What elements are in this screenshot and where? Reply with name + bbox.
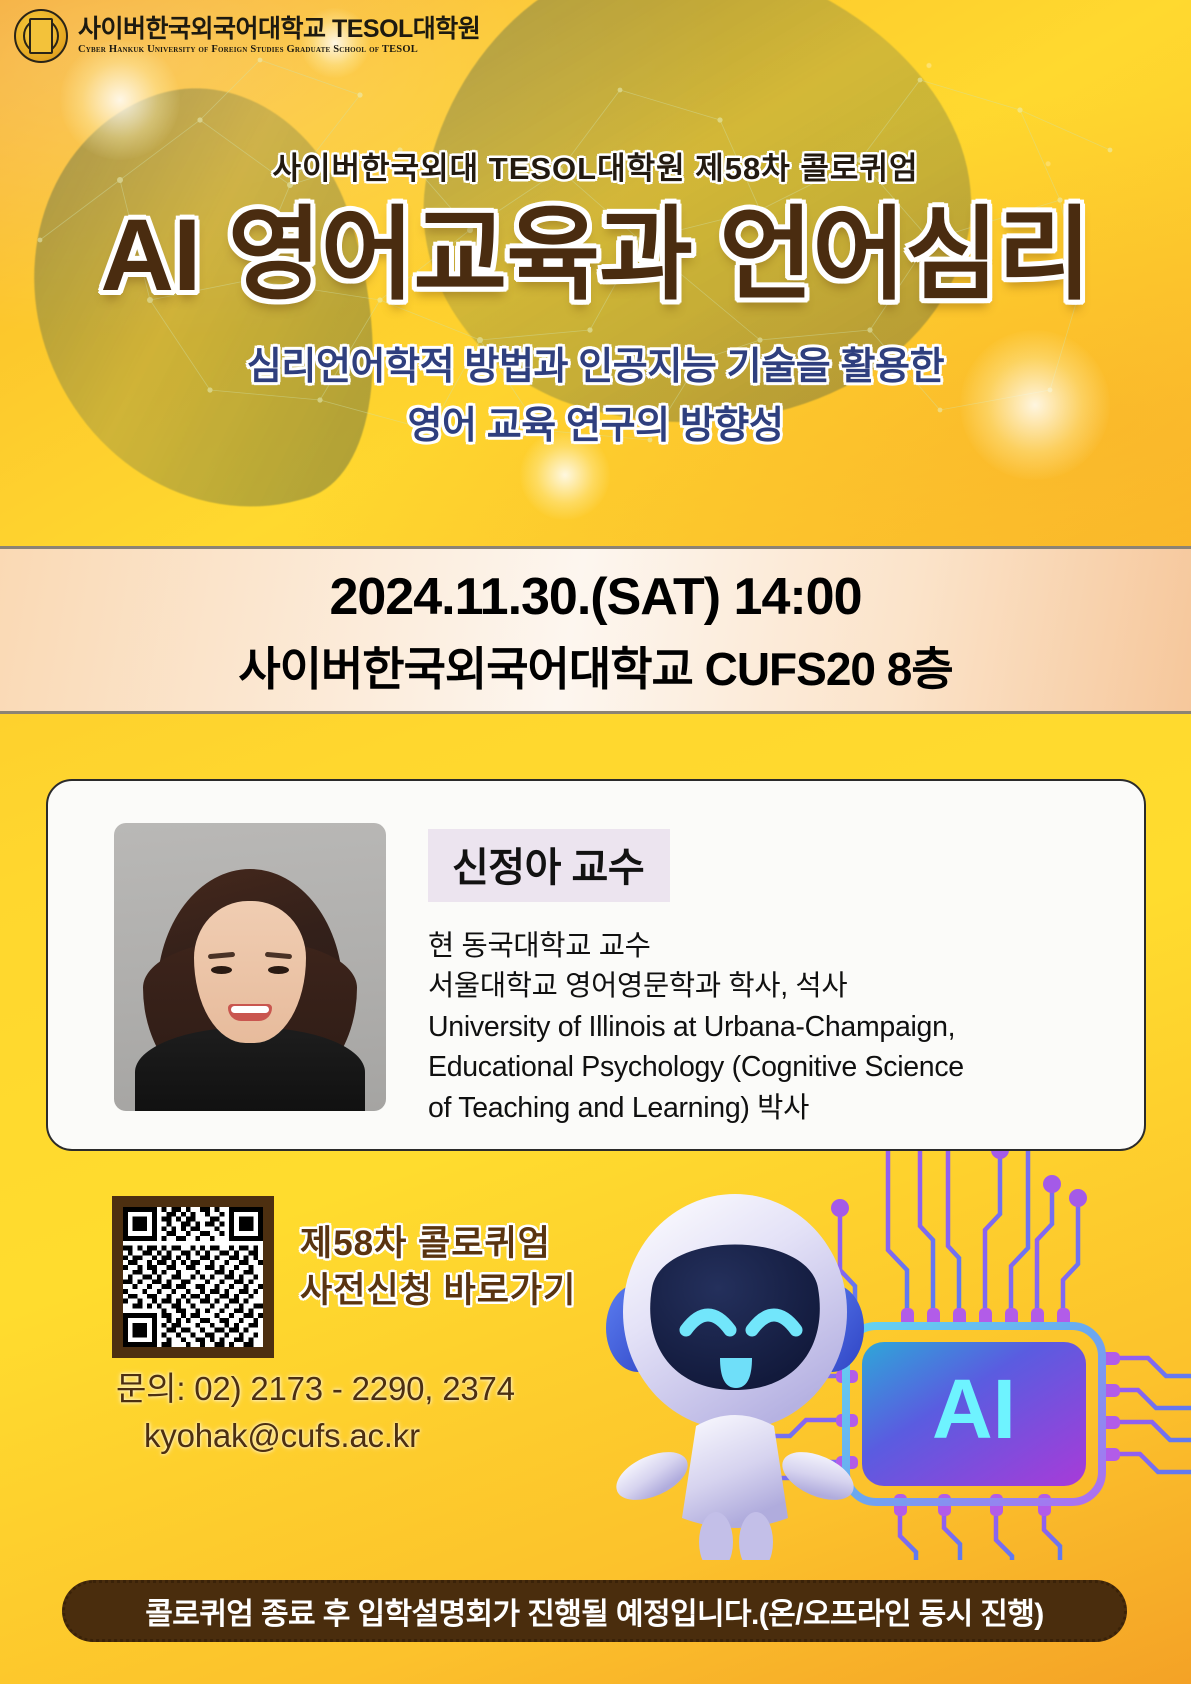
portrait-brow-left — [208, 952, 235, 959]
speaker-info: 신정아 교수 현 동국대학교 교수 서울대학교 영어영문학과 학사, 석사 Un… — [428, 823, 964, 1128]
contact-phone: 문의: 02) 2173 - 2290, 2374 — [116, 1366, 515, 1413]
ai-chip-icon: AI — [846, 1326, 1102, 1502]
portrait-brow-right — [265, 952, 292, 959]
chip-pins-top — [849, 1308, 1070, 1330]
event-datetime: 2024.11.30.(SAT) 14:00 — [0, 567, 1191, 627]
contact-email[interactable]: kyohak@cufs.ac.kr — [116, 1413, 515, 1460]
chip-pins-left — [836, 1370, 858, 1469]
speaker-bio: 현 동국대학교 교수 서울대학교 영어영문학과 학사, 석사 Universit… — [428, 926, 964, 1128]
hero-text-block: 사이버한국외대 TESOL대학원 제58차 콜로퀴엄 AI 영어교육과 언어심리… — [0, 0, 1191, 456]
portrait-eye-left — [211, 966, 232, 974]
bio-line: of Teaching and Learning) 박사 — [428, 1088, 964, 1128]
bio-line: 서울대학교 영어영문학과 학사, 석사 — [428, 966, 964, 1006]
portrait-smile — [228, 1004, 272, 1021]
subtitle-line-2: 영어 교육 연구의 방향성 — [0, 397, 1191, 456]
chip-pins-bottom — [894, 1494, 1051, 1516]
speaker-card: 신정아 교수 현 동국대학교 교수 서울대학교 영어영문학과 학사, 석사 Un… — [46, 779, 1146, 1151]
registration-cta[interactable]: 제58차 콜로퀴엄 사전신청 바로가기 — [300, 1220, 576, 1315]
notice-banner: 콜로퀴엄 종료 후 입학설명회가 진행될 예정입니다.(온/오프라인 동시 진행… — [62, 1580, 1127, 1642]
speaker-name: 신정아 교수 — [428, 829, 670, 902]
registration-cta-line-2: 사전신청 바로가기 — [300, 1267, 576, 1314]
registration-cta-line-1: 제58차 콜로퀴엄 — [300, 1220, 576, 1267]
qr-code-icon[interactable] — [112, 1196, 274, 1358]
page-title: AI 영어교육과 언어심리 — [0, 200, 1191, 310]
circuit-traces-left — [760, 1376, 844, 1478]
speaker-portrait-photo — [114, 823, 386, 1111]
chip-pins-right — [1098, 1352, 1120, 1461]
event-details-band: 2024.11.30.(SAT) 14:00 사이버한국외국어대학교 CUFS2… — [0, 546, 1191, 714]
poster-root: 사이버한국외국어대학교 TESOL대학원 Cyber Hankuk Univer… — [0, 0, 1191, 1684]
bio-line: University of Illinois at Urbana-Champai… — [428, 1007, 964, 1047]
subtitle-line-1: 심리언어학적 방법과 인공지능 기술을 활용한 — [0, 338, 1191, 397]
notice-text: 콜로퀴엄 종료 후 입학설명회가 진행될 예정입니다.(온/오프라인 동시 진행… — [145, 1589, 1043, 1633]
chip-label: AI — [932, 1362, 1016, 1456]
portrait-eye-right — [268, 966, 289, 974]
circuit-traces-right — [1108, 1358, 1191, 1472]
qr-code-matrix — [123, 1207, 263, 1347]
bio-line: 현 동국대학교 교수 — [428, 926, 964, 966]
colloquium-eyebrow: 사이버한국외대 TESOL대학원 제58차 콜로퀴엄 — [0, 143, 1191, 188]
bio-line: Educational Psychology (Cognitive Scienc… — [428, 1047, 964, 1087]
contact-block: 문의: 02) 2173 - 2290, 2374 kyohak@cufs.ac… — [116, 1366, 515, 1460]
ai-artwork: AI — [600, 1090, 1191, 1560]
circuit-traces-bottom — [900, 1502, 1060, 1560]
event-venue: 사이버한국외국어대학교 CUFS20 8층 — [0, 633, 1191, 699]
smiling-robot-mascot-icon — [606, 1194, 864, 1560]
